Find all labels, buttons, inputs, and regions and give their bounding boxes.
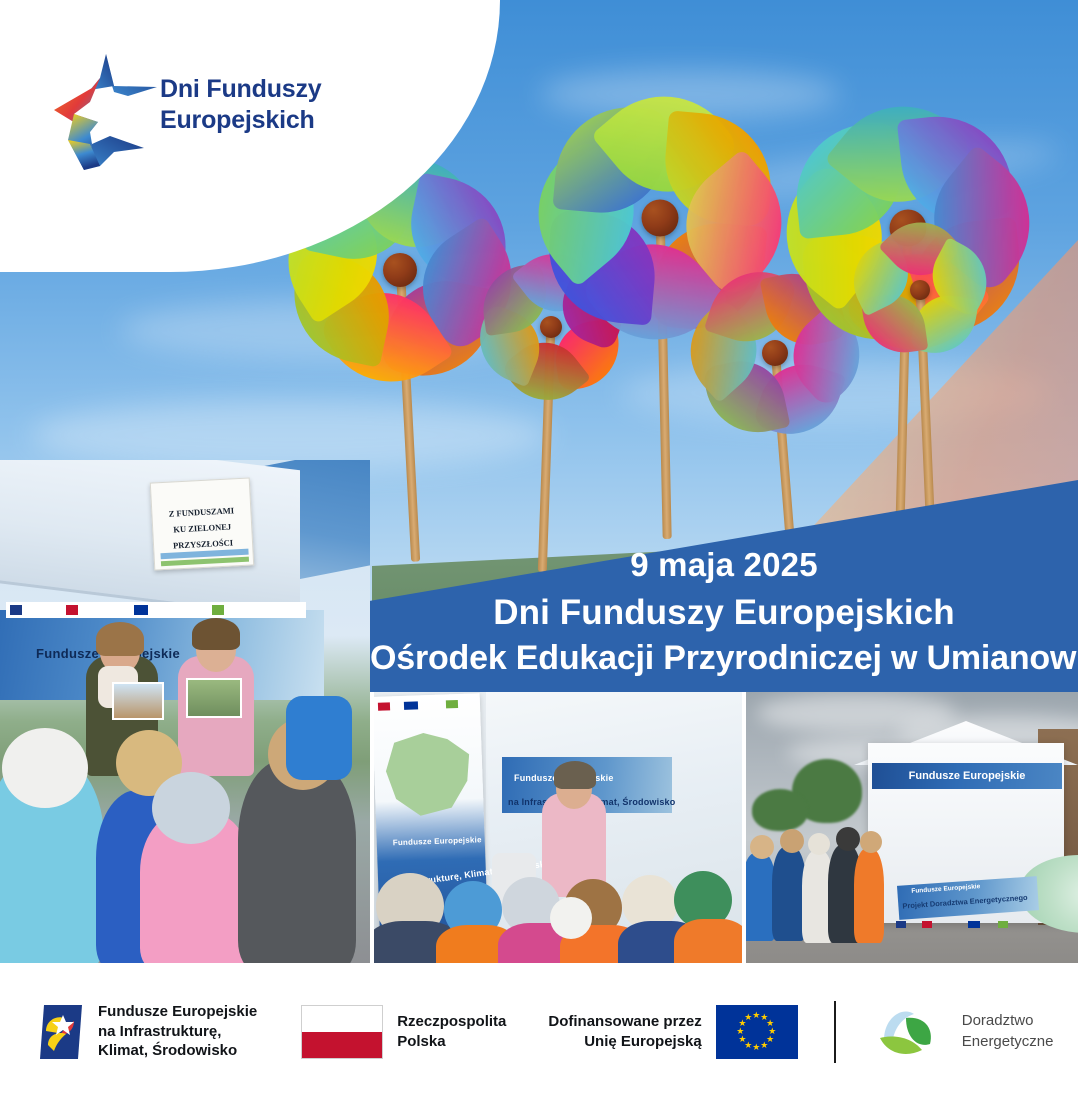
brand-logo-text: Dni Funduszy Europejskich (160, 74, 321, 135)
child-vest-orange (674, 919, 742, 963)
pl-label: Rzeczpospolita Polska (397, 1012, 506, 1051)
child-hat-white (2, 728, 88, 808)
presenter-hair (192, 618, 240, 650)
footer-dofinansowane-ue: Dofinansowane przez Unię Europejską ★★★★… (548, 1005, 797, 1059)
de-label: Doradztwo Energetyczne (962, 1011, 1054, 1052)
brand-logo: Dni Funduszy Europejskich (44, 48, 324, 178)
eu-star-icon: ★ (744, 1013, 753, 1022)
pinwheel-hub (762, 340, 788, 366)
pinwheel-hub (910, 280, 930, 300)
eu-label: Dofinansowane przez Unię Europejską (548, 1012, 701, 1051)
white-lantern (550, 897, 592, 939)
presenter-hair (96, 622, 144, 656)
eu-star-icon: ★ (736, 1027, 745, 1036)
poster-root: Z FUNDUSZAMI KU ZIELONEJ PRZYSZŁOŚCI Fun… (0, 0, 1078, 1100)
european-union-flag-icon: ★★★★★★★★★★★★ (716, 1005, 798, 1059)
footer-logo-bar: Fundusze Europejskie na Infrastrukturę, … (0, 963, 1078, 1100)
tent-lower-line1: Fundusze Europejskie (911, 883, 980, 895)
pinwheel-hub (383, 253, 417, 287)
child-figure (238, 760, 356, 963)
brand-line-2: Europejskich (160, 105, 321, 136)
flag-red-stripe (302, 1032, 382, 1058)
child-hat-grey (152, 772, 230, 844)
pl-line-1: Rzeczpospolita (397, 1012, 506, 1032)
footer-fundusze-europejskie: Fundusze Europejskie na Infrastrukturę, … (38, 1001, 257, 1063)
poland-map-graphic (381, 729, 476, 820)
brand-line-1: Dni Funduszy (160, 74, 321, 105)
pinwheel-icon (860, 230, 980, 350)
rollup-title: Fundusze Europejskie (393, 835, 482, 847)
pupil (772, 847, 806, 941)
photo-right-tent-outdoor: Fundusze Europejskie Fundusze Europejski… (746, 685, 1078, 963)
fe-line-1: Fundusze Europejskie (98, 1002, 257, 1022)
footer-doradztwo-energetyczne: Doradztwo Energetyczne (876, 1004, 1054, 1060)
polish-flag-icon (301, 1005, 383, 1059)
tent-lower-line2: Projekt Doradztwa Energetycznego (902, 893, 1028, 911)
doradztwo-energetyczne-logo-icon (876, 1004, 950, 1060)
photo-left-tent-presentation: Z FUNDUSZAMI KU ZIELONEJ PRZYSZŁOŚCI Fun… (0, 460, 370, 963)
tent-title-text: Fundusze Europejskie (909, 770, 1026, 782)
fundusze-europejskie-logo-icon (38, 1001, 84, 1063)
footer-divider (834, 1001, 836, 1063)
pupil (854, 849, 884, 943)
held-photo (112, 682, 164, 720)
photo-middle-children-rollup: Fundusze Europejskie na Infrastrukturę, … (374, 685, 742, 963)
hanging-sign: Z FUNDUSZAMI KU ZIELONEJ PRZYSZŁOŚCI (150, 477, 254, 570)
eu-star-icon: ★ (738, 1035, 747, 1044)
de-line-2: Energetyczne (962, 1032, 1054, 1052)
eu-line-2: Unię Europejską (548, 1032, 701, 1052)
pl-line-2: Polska (397, 1032, 506, 1052)
fe-line-2: na Infrastrukturę, (98, 1022, 257, 1042)
eu-star-icon: ★ (760, 1041, 769, 1050)
event-date: 9 maja 2025 (370, 546, 1078, 584)
star-logo-icon (44, 48, 174, 178)
title-block: 9 maja 2025 Dni Funduszy Europejskich Oś… (370, 480, 1078, 692)
event-title: Dni Funduszy Europejskich (370, 593, 1078, 633)
event-location: Ośrodek Edukacji Przyrodniczej w Umianow… (370, 639, 1078, 678)
sign-line-2: KU ZIELONEJ (153, 520, 251, 535)
footer-rzeczpospolita-polska: Rzeczpospolita Polska (301, 1005, 506, 1059)
sign-line-1: Z FUNDUSZAMI (152, 504, 250, 519)
eu-star-icon: ★ (752, 1043, 761, 1052)
child-jacket-blue (286, 696, 352, 780)
eu-line-1: Dofinansowane przez (548, 1012, 701, 1032)
pinwheel-hub (641, 199, 678, 236)
banner-logo-strip (6, 602, 306, 618)
held-photo (186, 678, 242, 718)
tent-title-bar: Fundusze Europejskie (872, 763, 1062, 789)
de-line-1: Doradztwo (962, 1011, 1054, 1031)
tree (752, 789, 808, 831)
fe-line-3: Klimat, Środowisko (98, 1041, 257, 1061)
fe-label: Fundusze Europejskie na Infrastrukturę, … (98, 1002, 257, 1061)
presenter-hair (554, 761, 596, 789)
